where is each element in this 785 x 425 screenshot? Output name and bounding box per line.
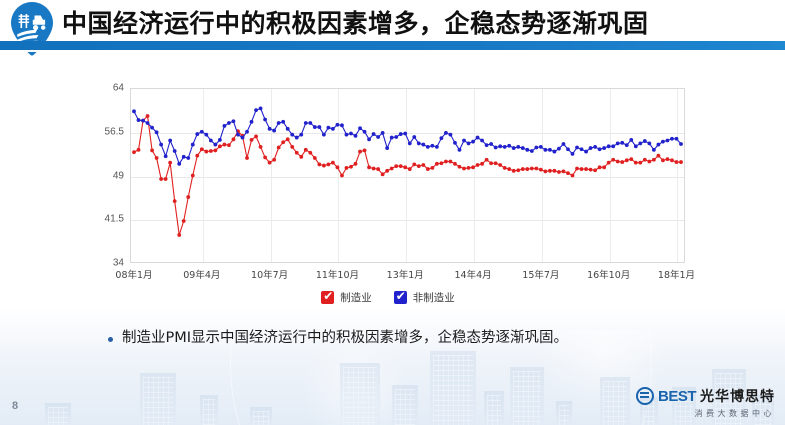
chart-point [204, 150, 208, 154]
chart-point [602, 165, 606, 169]
chart-point [467, 166, 471, 170]
chart-point [218, 144, 222, 148]
chart-point [485, 158, 489, 162]
chart-point [186, 195, 190, 199]
chart-point [557, 170, 561, 174]
chart-point [638, 142, 642, 146]
chart-point [295, 136, 299, 140]
chart-point [137, 118, 141, 122]
chart-point [168, 139, 172, 143]
chart-point [322, 164, 326, 168]
chart-point [191, 174, 195, 178]
chart-point [562, 170, 566, 174]
chart-point [286, 127, 290, 131]
chart-point [498, 163, 502, 167]
chart-point [602, 146, 606, 150]
chart-point [629, 157, 633, 161]
chart-point [322, 133, 326, 137]
chart-point [146, 121, 150, 125]
chart-y-tick-label: 49 [78, 170, 130, 181]
chart-point [263, 118, 267, 122]
chart-point [358, 150, 362, 154]
chart-point [566, 147, 570, 151]
chart-point [675, 160, 679, 164]
chart-point [462, 139, 466, 143]
chart-point [562, 142, 566, 146]
chart-point [557, 147, 561, 151]
chart-point [245, 156, 249, 160]
chart-point [584, 150, 588, 154]
chart-point [399, 164, 403, 168]
chart-point [290, 133, 294, 137]
chart-x-axis: 08年1月09年4月10年7月11年10月13年1月14年4月15年7月16年1… [130, 267, 685, 285]
chart-point [611, 158, 615, 162]
chart-point [186, 156, 190, 160]
chart-point [399, 132, 403, 136]
chart-point [670, 137, 674, 141]
chart-point [593, 145, 597, 149]
chart-point [548, 148, 552, 152]
chart-point [299, 133, 303, 137]
chart-point [132, 109, 136, 113]
chart-line-制造业 [134, 116, 681, 235]
chart-point [254, 135, 258, 139]
chart-line-非制造业 [134, 108, 681, 163]
chart-point [421, 143, 425, 147]
chart-point [525, 167, 529, 171]
slide-canvas: 中国经济运行中的积极因素增多，企稳态势逐渐巩固 3441.54956.564 0… [0, 0, 785, 425]
chart-point [589, 146, 593, 150]
chart-point [530, 149, 534, 153]
chart-point [308, 151, 312, 155]
chart-point [467, 142, 471, 146]
chart-point [331, 127, 335, 131]
chart-x-tick-label: 18年1月 [658, 267, 695, 281]
title-underline-gap [0, 50, 785, 52]
chart-x-tick-label: 10年7月 [251, 267, 288, 281]
chart-point [182, 155, 186, 159]
chart-point [227, 143, 231, 147]
chart-point [132, 150, 136, 154]
chart-point [426, 145, 430, 149]
chart-point [159, 143, 163, 147]
chart-point [218, 138, 222, 142]
chart-point [485, 143, 489, 147]
chart-point [304, 121, 308, 125]
chart-point [204, 133, 208, 137]
chart-point [503, 145, 507, 149]
chart-series-layer [130, 88, 685, 263]
chart-point [462, 167, 466, 171]
chart-point [209, 149, 213, 153]
chart-point [512, 146, 516, 150]
brand-logo: BEST 光华博思特 消费大数据中心 [636, 386, 775, 419]
chart-point [223, 124, 227, 128]
chart-point [435, 162, 439, 166]
chart-point [236, 133, 240, 137]
chart-point [480, 162, 484, 166]
title-underline-bar [0, 41, 785, 50]
chart-point [629, 138, 633, 142]
chart-x-tick-label: 11年10月 [316, 267, 359, 281]
chart-point [259, 107, 263, 111]
chart-x-tick-label: 09年4月 [183, 267, 220, 281]
chart-legend: ✔ 制造业 ✔ 非制造业 [78, 286, 698, 308]
chart-point [349, 165, 353, 169]
chart-point [598, 165, 602, 169]
chart-point [367, 165, 371, 169]
chart-point [458, 165, 462, 169]
chart-point [245, 130, 249, 134]
chart-point [634, 144, 638, 148]
chart-point [381, 172, 385, 176]
chart-point [164, 154, 168, 158]
chart-point [326, 163, 330, 167]
chart-point [268, 161, 272, 165]
page-title: 中国经济运行中的积极因素增多，企稳态势逐渐巩固 [62, 4, 649, 40]
chart-point [471, 165, 475, 169]
chart-point [340, 123, 344, 127]
chart-point [354, 162, 358, 166]
chart-point [516, 168, 520, 172]
chart-point [308, 121, 312, 125]
chart-point [317, 125, 321, 129]
chart-point [177, 162, 181, 166]
brand-subtitle: 消费大数据中心 [636, 408, 775, 419]
chart-point [494, 146, 498, 150]
chart-point [295, 151, 299, 155]
chart-point [489, 142, 493, 146]
chart-point [209, 139, 213, 143]
chart-point [286, 137, 290, 141]
bullet-text: 制造业PMI显示中国经济运行中的积极因素增多，企稳态势逐渐巩固。 [122, 329, 568, 349]
chart-point [394, 135, 398, 139]
chart-point [430, 166, 434, 170]
chart-point [259, 145, 263, 149]
chart-point [476, 136, 480, 140]
chart-point [598, 147, 602, 151]
chart-x-tick-label: 14年4月 [454, 267, 491, 281]
chart-point [620, 141, 624, 145]
chart-point [345, 166, 349, 170]
chart-point [232, 119, 236, 123]
chart-point [458, 148, 462, 152]
chart-point [403, 132, 407, 136]
chart-point [679, 160, 683, 164]
chart-point [159, 177, 163, 181]
chart-point [521, 146, 525, 150]
chart-point [498, 144, 502, 148]
chart-point [625, 143, 629, 147]
chart-point [390, 136, 394, 140]
chart-point [666, 157, 670, 161]
chart-point [390, 167, 394, 171]
chart-point [326, 126, 330, 130]
chart-point [331, 161, 335, 165]
check-icon: ✔ [396, 290, 406, 303]
chart-point [304, 148, 308, 152]
chart-point [394, 164, 398, 168]
chart-point [299, 155, 303, 159]
chart-point [616, 142, 620, 146]
chart-point [345, 133, 349, 137]
chart-point [200, 130, 204, 134]
chart-point [584, 167, 588, 171]
chart-point [430, 144, 434, 148]
chart-point [625, 158, 629, 162]
legend-item-manufacturing[interactable]: ✔ 制造业 [321, 290, 372, 305]
legend-label-non-manufacturing: 非制造业 [413, 290, 455, 305]
chart-point [313, 156, 317, 160]
chart-point [471, 140, 475, 144]
chart-point [349, 132, 353, 136]
chart-point [643, 158, 647, 162]
chart-point [363, 149, 367, 153]
chart-y-axis: 3441.54956.564 [78, 88, 130, 263]
chart-point [553, 150, 557, 154]
chart-point [272, 129, 276, 133]
chart-point [200, 147, 204, 151]
chart-y-tick-label: 56.5 [78, 126, 130, 137]
chart-point [150, 149, 154, 153]
chart-point [417, 142, 421, 146]
chart-point [444, 131, 448, 135]
chart-point [182, 219, 186, 223]
page-number: 8 [12, 400, 18, 412]
pmi-line-chart: 3441.54956.564 08年1月09年4月10年7月11年10月13年1… [78, 78, 698, 313]
chart-point [575, 146, 579, 150]
chart-point [313, 125, 317, 129]
chart-point [412, 163, 416, 167]
chart-point [539, 145, 543, 149]
chart-point [155, 156, 159, 160]
chart-point [272, 158, 276, 162]
chart-point [173, 199, 177, 203]
chart-point [516, 145, 520, 149]
chart-y-tick-label: 64 [78, 83, 130, 94]
chart-point [412, 135, 416, 139]
chart-point [372, 167, 376, 171]
chart-point [679, 142, 683, 146]
chart-point [372, 132, 376, 136]
chart-point [607, 144, 611, 148]
chart-point [277, 146, 281, 150]
chart-point [675, 137, 679, 141]
chart-point [435, 145, 439, 149]
chart-point [173, 149, 177, 153]
chart-point [449, 133, 453, 137]
chart-point [512, 169, 516, 173]
chart-point [656, 154, 660, 158]
chart-point [647, 142, 651, 146]
chart-point [164, 177, 168, 181]
chart-point [141, 119, 145, 123]
chart-point [440, 136, 444, 140]
chart-x-tick-label: 15年7月 [522, 267, 559, 281]
chart-point [593, 168, 597, 172]
chart-point [534, 167, 538, 171]
chart-point [290, 145, 294, 149]
chart-point [376, 135, 380, 139]
chart-point [652, 158, 656, 162]
chart-point [381, 131, 385, 135]
chart-point [137, 148, 141, 152]
chart-point [476, 163, 480, 167]
chart-point [566, 171, 570, 175]
chart-point [232, 137, 236, 141]
chart-point [168, 161, 172, 165]
chart-point [417, 164, 421, 168]
chart-point [534, 146, 538, 150]
legend-swatch-non-manufacturing: ✔ [394, 291, 407, 304]
chart-point [580, 167, 584, 171]
legend-item-non-manufacturing[interactable]: ✔ 非制造业 [394, 290, 455, 305]
chart-point [543, 148, 547, 152]
chart-point [155, 130, 159, 134]
chart-point [539, 168, 543, 172]
chart-point [191, 143, 195, 147]
chart-point [571, 152, 575, 156]
chart-point [254, 108, 258, 112]
chart-point [408, 167, 412, 171]
brand-row: BEST 光华博思特 [636, 386, 775, 406]
chart-point [607, 161, 611, 165]
chart-point [241, 136, 245, 140]
chart-point [620, 160, 624, 164]
chart-point [580, 147, 584, 151]
chart-point [647, 160, 651, 164]
chart-point [268, 127, 272, 131]
legend-swatch-manufacturing: ✔ [321, 291, 334, 304]
chart-point [336, 123, 340, 127]
chart-point [358, 126, 362, 130]
chart-x-tick-label: 16年10月 [587, 267, 630, 281]
slide-header: 中国经济运行中的积极因素增多，企稳态势逐渐巩固 [0, 0, 785, 45]
chart-point [426, 167, 430, 171]
chart-point [340, 174, 344, 178]
chart-point [494, 161, 498, 165]
chart-point [281, 140, 285, 144]
best-mark-icon [636, 387, 654, 405]
chart-point [553, 169, 557, 173]
chart-point [503, 166, 507, 170]
chart-point [575, 167, 579, 171]
chart-point [317, 163, 321, 167]
chart-point [223, 143, 227, 147]
chart-point [521, 167, 525, 171]
chart-point [638, 161, 642, 165]
chart-point [403, 165, 407, 169]
chart-point [507, 144, 511, 148]
chart-point [385, 169, 389, 173]
chart-point [250, 138, 254, 142]
chart-point [227, 121, 231, 125]
chart-point [661, 140, 665, 144]
brand-name-cn: 光华博思特 [700, 386, 775, 406]
chart-point [525, 148, 529, 152]
chart-y-tick-label: 41.5 [78, 214, 130, 225]
chart-point [367, 137, 371, 141]
chart-point [421, 163, 425, 167]
chart-point [277, 121, 281, 125]
chart-point [543, 170, 547, 174]
chart-point [489, 161, 493, 165]
chart-point [363, 130, 367, 134]
chart-point [453, 141, 457, 145]
chart-point [616, 160, 620, 164]
chart-point [354, 134, 358, 138]
chart-point [571, 174, 575, 178]
chart-point [213, 149, 217, 153]
chart-point [589, 168, 593, 172]
chart-point [336, 165, 340, 169]
chart-point [385, 146, 389, 150]
chart-point [643, 139, 647, 143]
chart-point [656, 143, 660, 147]
chart-point [444, 160, 448, 164]
chart-x-tick-label: 08年1月 [115, 267, 152, 281]
brand-best-text: BEST [658, 388, 696, 405]
chart-point [263, 156, 267, 160]
chart-point [281, 120, 285, 124]
chart-point [195, 132, 199, 136]
chart-point [548, 169, 552, 173]
chart-x-tick-label: 13年1月 [387, 267, 424, 281]
chart-point [250, 120, 254, 124]
chart-point [177, 233, 181, 237]
chart-point [150, 126, 154, 130]
chart-point [530, 167, 534, 171]
legend-label-manufacturing: 制造业 [340, 290, 372, 305]
chart-point [661, 158, 665, 162]
chart-point [449, 160, 453, 164]
chart-point [611, 144, 615, 148]
chart-point [670, 158, 674, 162]
bullet-dot-icon [108, 337, 113, 342]
chart-point [652, 148, 656, 152]
chart-point [480, 139, 484, 143]
chart-point [376, 167, 380, 171]
chart-point [666, 139, 670, 143]
chart-point [213, 143, 217, 147]
chart-point [408, 142, 412, 146]
chart-point [634, 161, 638, 165]
chart-point [146, 114, 150, 118]
chart-point [195, 154, 199, 158]
chart-point [440, 161, 444, 165]
check-icon: ✔ [323, 290, 333, 303]
chart-point [507, 167, 511, 171]
chart-point [453, 162, 457, 166]
bullet-point: 制造业PMI显示中国经济运行中的积极因素增多，企稳态势逐渐巩固。 [108, 329, 728, 349]
